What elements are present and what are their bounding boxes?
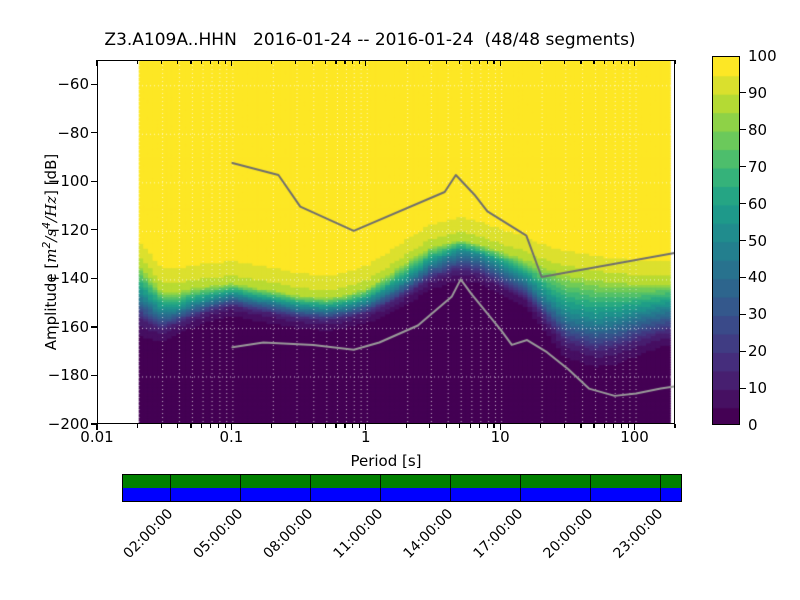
coverage-segment-divider: [240, 475, 241, 501]
coverage-segment-divider: [660, 475, 661, 501]
x-tick-label: 100: [620, 428, 649, 446]
time-tick-label: 02:00:00: [120, 506, 176, 562]
ppsd-figure: Z3.A109A..HHN 2016-01-24 -- 2016-01-24 (…: [0, 0, 800, 600]
coverage-segment-blue: [123, 488, 681, 501]
x-tick-label: 0.1: [219, 428, 243, 446]
y-tick-mark: [91, 326, 97, 327]
x-tick-mark: [96, 424, 97, 430]
x-tick-mark: [628, 424, 629, 428]
y-tick-mark: [91, 229, 97, 230]
colorbar-tick-mark: [740, 92, 746, 93]
x-tick-mark: [225, 424, 226, 428]
x-tick-mark: [470, 424, 471, 428]
time-tick-label: 23:00:00: [610, 506, 666, 562]
x-tick-mark: [325, 424, 326, 428]
time-tick-label: 20:00:00: [540, 506, 596, 562]
colorbar-tick-mark: [740, 277, 746, 278]
coverage-segment-divider: [380, 475, 381, 501]
x-tick-label: 10: [491, 428, 510, 446]
x-tick-mark: [231, 424, 232, 430]
y-tick-label: −80: [57, 124, 89, 142]
x-tick-mark: [218, 424, 219, 428]
x-tick-mark: [335, 424, 336, 428]
colorbar-tick-label: 40: [748, 268, 767, 286]
y-tick-label: −60: [57, 75, 89, 93]
colorbar-tick-mark: [740, 240, 746, 241]
colorbar-tick-mark: [740, 166, 746, 167]
x-axis-label: Period [s]: [97, 452, 675, 470]
x-tick-mark: [177, 424, 178, 428]
y-tick-label: −180: [48, 366, 89, 384]
x-tick-mark: [271, 424, 272, 428]
y-tick-mark: [91, 278, 97, 279]
x-tick-mark: [479, 424, 480, 428]
x-tick-label: 1: [361, 428, 371, 446]
x-tick-mark: [674, 424, 675, 428]
x-tick-mark: [604, 424, 605, 428]
x-tick-mark: [500, 424, 501, 430]
x-tick-mark: [359, 424, 360, 428]
y-tick-mark: [91, 181, 97, 182]
colorbar-tick-label: 100: [748, 47, 777, 65]
y-tick-mark: [91, 132, 97, 133]
coverage-segment-divider: [170, 475, 171, 501]
x-tick-mark: [593, 424, 594, 428]
x-tick-mark: [210, 424, 211, 428]
x-tick-mark: [406, 424, 407, 428]
x-tick-mark: [580, 424, 581, 428]
colorbar-tick-mark: [740, 203, 746, 204]
colorbar-tick-mark: [740, 388, 746, 389]
x-tick-mark: [295, 424, 296, 428]
y-tick-mark: [91, 84, 97, 85]
y-tick-label: −100: [48, 172, 89, 190]
ppsd-plot-area[interactable]: [97, 60, 675, 424]
x-tick-mark: [161, 424, 162, 428]
figure-title: Z3.A109A..HHN 2016-01-24 -- 2016-01-24 (…: [0, 30, 740, 50]
x-tick-mark: [429, 424, 430, 428]
colorbar-tick-mark: [740, 351, 746, 352]
x-tick-mark: [621, 424, 622, 428]
time-tick-label: 05:00:00: [190, 506, 246, 562]
colorbar-tick-label: 50: [748, 232, 767, 250]
colorbar[interactable]: [712, 56, 740, 425]
y-tick-label: −140: [48, 269, 89, 287]
coverage-segment-divider: [520, 475, 521, 501]
colorbar-tick-mark: [740, 314, 746, 315]
noise-model-lines: [98, 61, 675, 424]
y-tick-mark: [91, 423, 97, 424]
x-tick-mark: [540, 424, 541, 428]
x-tick-mark: [365, 424, 366, 430]
time-tick-label: 17:00:00: [470, 506, 526, 562]
y-tick-label: −160: [48, 318, 89, 336]
colorbar-tick-label: 30: [748, 305, 767, 323]
x-tick-mark: [613, 424, 614, 428]
coverage-segment-divider: [310, 475, 311, 501]
colorbar-tick-label: 90: [748, 84, 767, 102]
y-tick-label: −120: [48, 221, 89, 239]
x-tick-mark: [344, 424, 345, 428]
colorbar-tick-mark: [740, 129, 746, 130]
x-tick-mark: [190, 424, 191, 428]
colorbar-tick-label: 20: [748, 342, 767, 360]
coverage-segment-divider: [450, 475, 451, 501]
time-tick-label: 14:00:00: [400, 506, 456, 562]
x-tick-mark: [459, 424, 460, 428]
time-tick-label: 11:00:00: [330, 506, 386, 562]
x-tick-mark: [201, 424, 202, 428]
colorbar-tick-label: 0: [748, 416, 758, 434]
x-tick-mark: [137, 424, 138, 428]
time-tick-label: 08:00:00: [260, 506, 316, 562]
colorbar-gradient: [713, 57, 740, 425]
coverage-segment-green: [123, 475, 681, 488]
colorbar-tick-label: 10: [748, 379, 767, 397]
colorbar-tick-label: 80: [748, 121, 767, 139]
time-coverage-bar[interactable]: [122, 474, 682, 502]
colorbar-tick-label: 70: [748, 158, 767, 176]
x-tick-mark: [487, 424, 488, 428]
x-tick-mark: [493, 424, 494, 428]
x-tick-mark: [564, 424, 565, 428]
y-axis-ticks: −200−180−160−140−120−100−80−60: [0, 0, 89, 600]
colorbar-tick-label: 60: [748, 195, 767, 213]
x-tick-mark: [312, 424, 313, 428]
y-tick-mark: [91, 375, 97, 376]
x-tick-mark: [446, 424, 447, 428]
x-tick-mark: [352, 424, 353, 428]
y-tick-label: −200: [48, 415, 89, 433]
coverage-segment-divider: [590, 475, 591, 501]
x-tick-mark: [634, 424, 635, 430]
